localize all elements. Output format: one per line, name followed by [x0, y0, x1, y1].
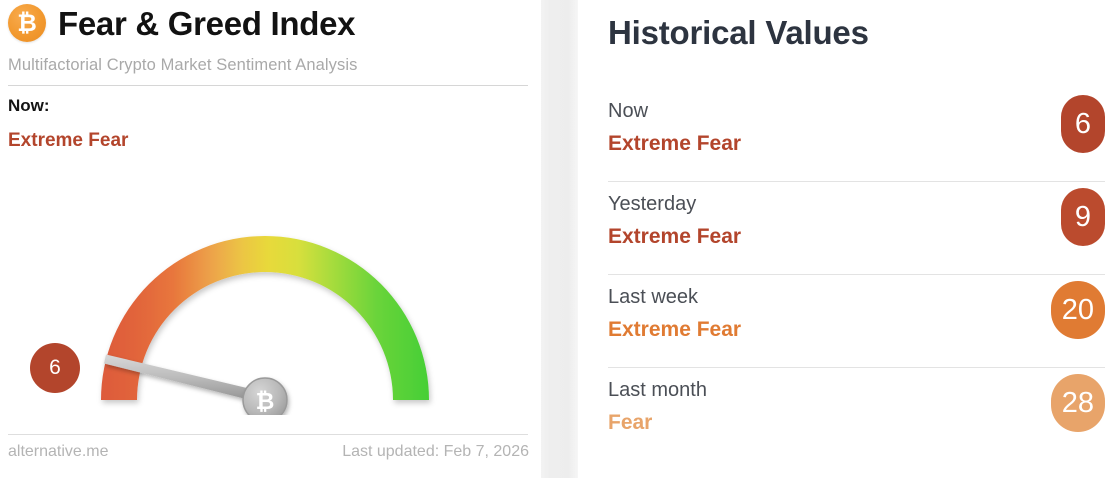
- page-subtitle: Multifactorial Crypto Market Sentiment A…: [8, 56, 358, 75]
- panel-separator: [541, 0, 578, 478]
- history-row-label: Last month: [608, 379, 707, 402]
- history-row-divider: [608, 274, 1105, 275]
- historical-values-title: Historical Values: [608, 14, 869, 52]
- now-label: Now:: [8, 96, 50, 116]
- history-row-sentiment: Extreme Fear: [608, 318, 741, 342]
- history-row: YesterdayExtreme Fear9: [608, 181, 1105, 274]
- footer-divider: [8, 434, 528, 435]
- gauge-value-badge: 6: [30, 343, 80, 393]
- gauge-panel: ₿ Fear & Greed Index Multifactorial Cryp…: [0, 0, 541, 478]
- history-row-sentiment: Fear: [608, 411, 652, 435]
- now-value: Extreme Fear: [8, 130, 128, 152]
- historical-values-list: NowExtreme Fear6YesterdayExtreme Fear9La…: [608, 88, 1105, 460]
- history-row-badge: 9: [1061, 188, 1105, 246]
- history-row-sentiment: Extreme Fear: [608, 225, 741, 249]
- history-row-label: Yesterday: [608, 193, 696, 216]
- history-row-badge: 28: [1051, 374, 1105, 432]
- hub-bitcoin-glyph: ₿: [256, 389, 275, 415]
- gauge-chart: ₿: [0, 150, 541, 415]
- history-row-label: Last week: [608, 286, 698, 309]
- gauge-arc: [101, 236, 429, 400]
- history-row-label: Now: [608, 100, 648, 123]
- gauge-value-badge-text: 6: [49, 356, 61, 380]
- history-row-badge: 20: [1051, 281, 1105, 339]
- last-updated-text: Last updated: Feb 7, 2026: [342, 443, 529, 461]
- history-row: Last weekExtreme Fear20: [608, 274, 1105, 367]
- panel-header: ₿ Fear & Greed Index: [8, 4, 355, 42]
- bitcoin-glyph: ₿: [17, 11, 37, 35]
- history-row-sentiment: Extreme Fear: [608, 132, 741, 156]
- history-row-badge: 6: [1061, 95, 1105, 153]
- gauge-svg: ₿: [0, 150, 541, 415]
- fear-greed-widget: ₿ Fear & Greed Index Multifactorial Cryp…: [0, 0, 1111, 478]
- source-link[interactable]: alternative.me: [8, 443, 109, 461]
- page-title: Fear & Greed Index: [58, 7, 355, 40]
- historical-values-panel: Historical Values NowExtreme Fear6Yester…: [578, 0, 1111, 478]
- history-row: Last monthFear28: [608, 367, 1105, 460]
- history-row-divider: [608, 181, 1105, 182]
- header-divider: [8, 85, 528, 86]
- history-row-divider: [608, 367, 1105, 368]
- bitcoin-icon: ₿: [8, 4, 46, 42]
- history-row: NowExtreme Fear6: [608, 88, 1105, 181]
